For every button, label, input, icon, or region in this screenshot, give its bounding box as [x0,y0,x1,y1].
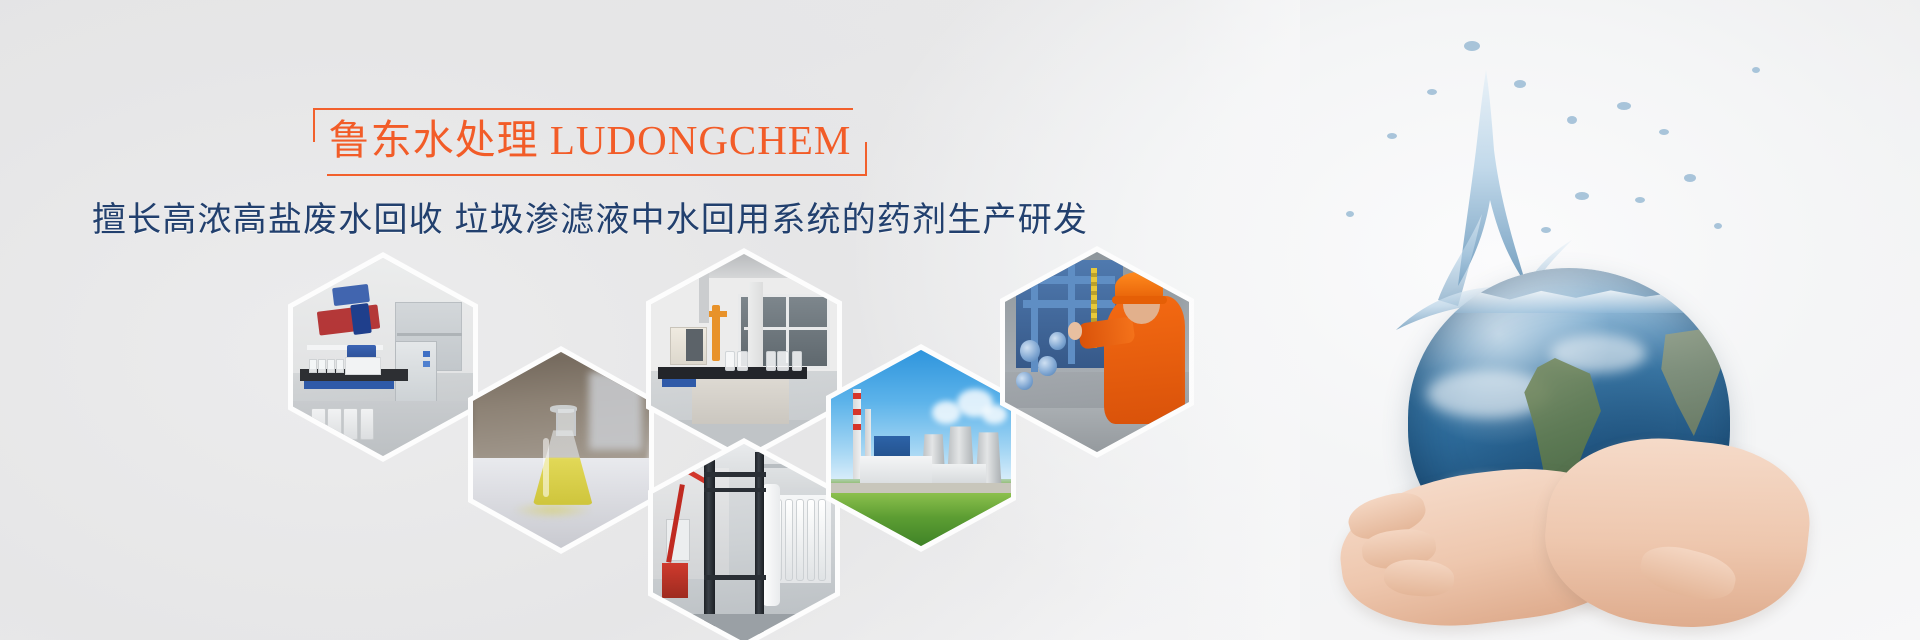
bracket-bottom-line [327,174,868,176]
brand-title: 鲁东水处理 LUDONGCHEM [329,118,852,164]
brand-title-frame: 鲁东水处理 LUDONGCHEM [295,108,886,176]
hero-banner: 鲁东水处理 LUDONGCHEM 擅长高浓高盐废水回收 垃圾渗滤液中水回用系统的… [0,0,1920,640]
bracket-right-line [865,142,867,176]
hex-image-power-plant-cooling-towers [831,350,1011,546]
hex-tile-analysis-laboratory[interactable] [646,248,842,462]
hands-holding-water-globe [1220,0,1920,640]
bracket-left-line [313,108,315,142]
hex-image-yellow-reagent-flask [473,352,649,548]
hex-tile-membrane-treatment-plant[interactable] [648,438,840,640]
hex-image-membrane-treatment-plant [653,444,835,640]
hex-image-field-engineer [1005,252,1189,452]
hex-image-laboratory-interior [293,258,473,456]
hex-tile-yellow-reagent-flask[interactable] [468,346,654,554]
hex-tile-power-plant-cooling-towers[interactable] [826,344,1016,552]
hexagon-gallery [0,248,1190,640]
cupped-hands [1340,430,1810,640]
hex-image-analysis-laboratory [651,254,837,456]
continent-africa [1653,328,1724,436]
hex-tile-field-engineer[interactable] [1000,246,1194,458]
hex-tile-laboratory-interior[interactable] [288,252,478,462]
right-hand [1537,427,1817,639]
brand-subtitle: 擅长高浓高盐废水回收 垃圾渗滤液中水回用系统的药剂生产研发 [0,192,1180,241]
bracket-top-line [313,108,854,110]
headline-block: 鲁东水处理 LUDONGCHEM 擅长高浓高盐废水回收 垃圾渗滤液中水回用系统的… [0,108,1180,241]
